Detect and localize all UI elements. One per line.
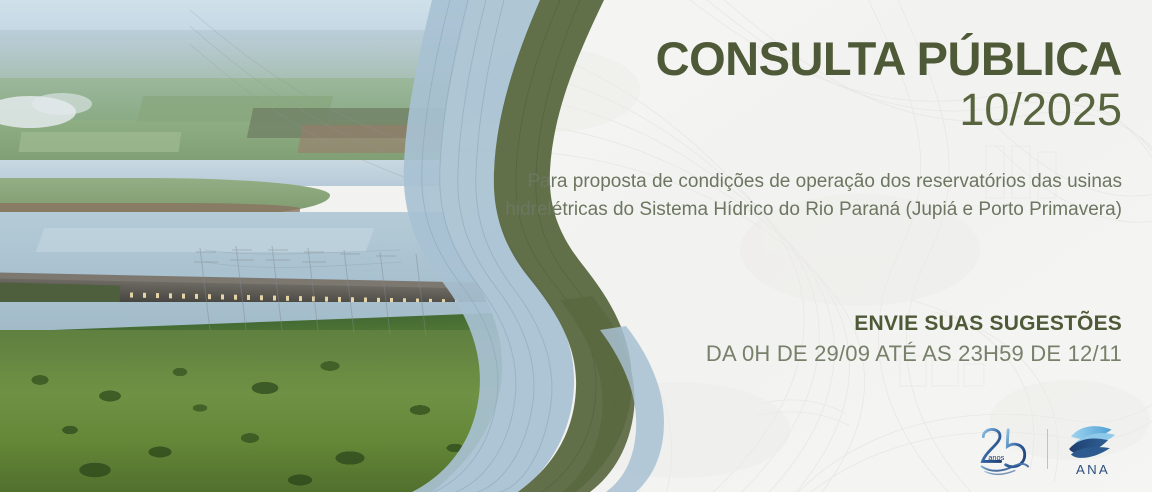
call-to-action: ENVIE SUAS SUGESTÕES DA 0H DE 29/09 ATÉ …	[482, 312, 1122, 367]
page-title: CONSULTA PÚBLICA	[482, 0, 1122, 84]
logo-divider	[1047, 429, 1048, 469]
cta-heading: ENVIE SUAS SUGESTÕES	[482, 312, 1122, 336]
consulta-publica-banner: CONSULTA PÚBLICA 10/2025 Para proposta d…	[0, 0, 1152, 492]
banner-content: CONSULTA PÚBLICA 10/2025 Para proposta d…	[482, 0, 1122, 492]
description-text: Para proposta de condições de operação d…	[482, 134, 1122, 226]
ana-logo: ANA	[1062, 420, 1124, 478]
aerial-photo	[0, 0, 520, 492]
cta-period: DA 0H DE 29/09 ATÉ AS 23H59 DE 12/11	[482, 341, 1122, 367]
transmission-lines	[0, 0, 520, 492]
25-anos-logo: anos	[975, 420, 1033, 478]
ana-acronym: ANA	[1076, 462, 1110, 477]
photo-layers	[0, 0, 520, 492]
logo-group: anos ANA	[975, 420, 1124, 478]
25-anos-caption: anos	[988, 453, 1004, 462]
page-subtitle: 10/2025	[482, 86, 1122, 134]
